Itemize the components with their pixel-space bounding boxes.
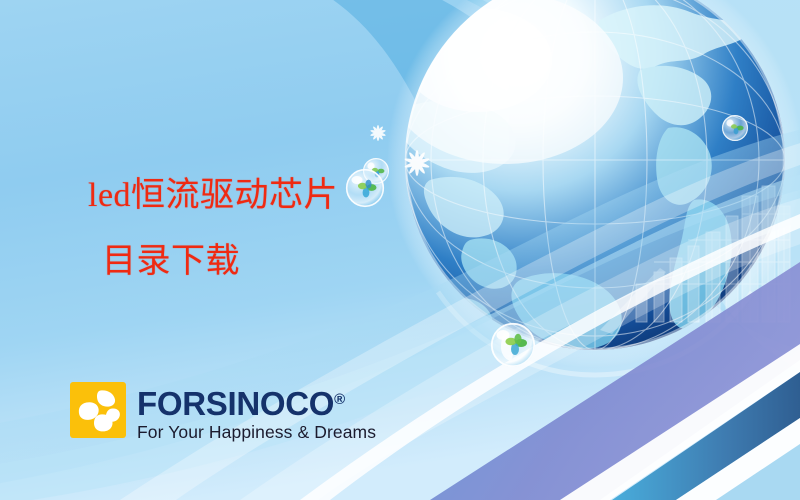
headline-line-2: 目录下载 xyxy=(88,229,518,295)
logo-text-block: FORSINOCO® For Your Happiness & Dreams xyxy=(137,382,376,442)
promo-banner: led恒流驱动芯片 目录下载 FORSINOCO® For Your Happi… xyxy=(0,0,800,500)
headline-line-1: led恒流驱动芯片 xyxy=(88,177,338,214)
bubble-globe-right xyxy=(722,115,748,141)
brand-wordmark: FORSINOCO® xyxy=(137,383,376,421)
brand-tagline: For Your Happiness & Dreams xyxy=(137,422,376,442)
logo-mark-pinwheel-icon xyxy=(70,382,126,438)
company-logo[interactable]: FORSINOCO® For Your Happiness & Dreams xyxy=(70,382,376,442)
registered-trademark-icon: ® xyxy=(334,391,345,408)
headline-text: led恒流驱动芯片 目录下载 xyxy=(88,163,518,295)
brand-name: FORSINOCO xyxy=(137,385,334,422)
bubble-pinwheel-lower xyxy=(491,323,535,367)
four-petal-flower-icon xyxy=(70,382,126,438)
